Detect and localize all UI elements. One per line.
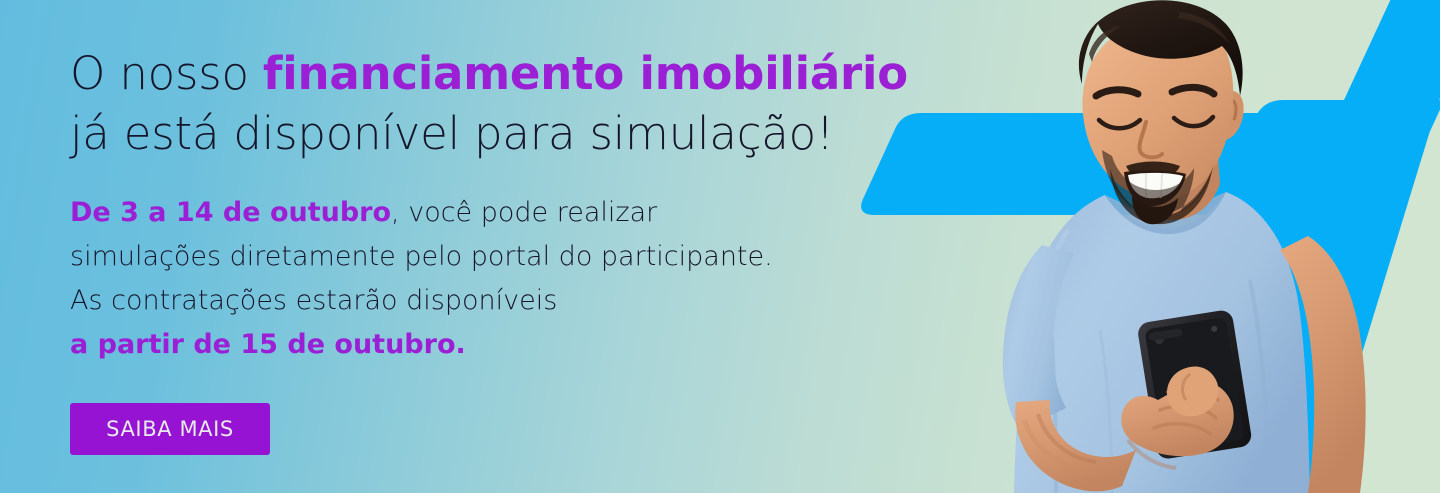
- headline-accent-text: financiamento imobiliário: [263, 47, 908, 100]
- copy-block: O nosso financiamento imobiliário já est…: [70, 44, 860, 367]
- man-with-smartphone-photo: [950, 0, 1440, 493]
- saiba-mais-button[interactable]: SAIBA MAIS: [70, 403, 270, 455]
- subcopy: De 3 a 14 de outubro, você pode realizar…: [70, 164, 860, 367]
- subcopy-line-2: simulações diretamente pelo portal do pa…: [70, 235, 860, 279]
- subcopy-line-3: As contratações estarão disponíveis: [70, 279, 860, 323]
- headline-line-2: já está disponível para simulação!: [70, 107, 834, 160]
- subcopy-accent-availability: a partir de 15 de outubro.: [70, 323, 860, 367]
- subcopy-accent-dates: De 3 a 14 de outubro: [70, 197, 391, 228]
- headline-line-1: O nosso financiamento imobiliário: [70, 47, 908, 100]
- promo-banner: O nosso financiamento imobiliário já est…: [0, 0, 1440, 493]
- subcopy-line-1-plain: , você pode realizar: [391, 197, 657, 228]
- subcopy-line-1: De 3 a 14 de outubro, você pode realizar: [70, 191, 860, 235]
- headline: O nosso financiamento imobiliário já est…: [70, 44, 860, 164]
- headline-plain-text: O nosso: [70, 47, 263, 100]
